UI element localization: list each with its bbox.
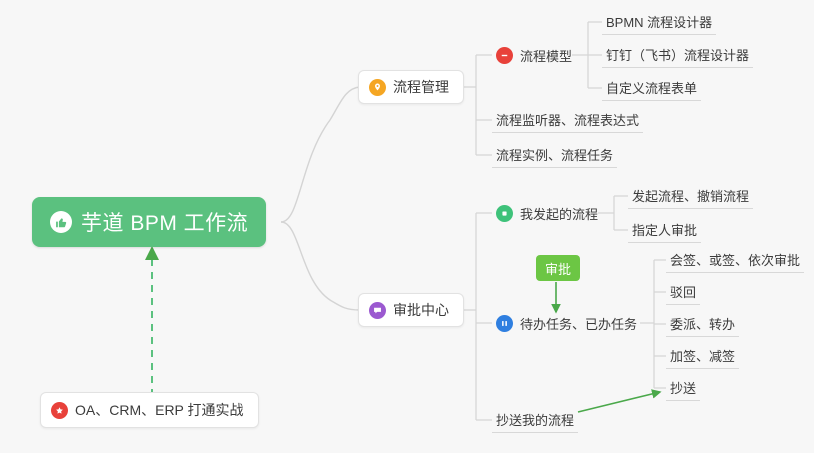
node-instance-task[interactable]: 流程实例、流程任务 — [492, 142, 617, 168]
minus-circle-icon — [496, 47, 513, 64]
node-label: 委派、转办 — [670, 314, 735, 333]
location-pin-icon — [369, 79, 386, 96]
note-card-label: OA、CRM、ERP 打通实战 — [75, 400, 244, 420]
note-card-integration[interactable]: OA、CRM、ERP 打通实战 — [40, 392, 259, 428]
branch-node-approval-center[interactable]: 审批中心 — [358, 293, 464, 327]
node-dingtalk-designer[interactable]: 钉钉（飞书）流程设计器 — [602, 42, 753, 68]
node-start-cancel-process[interactable]: 发起流程、撤销流程 — [628, 183, 753, 209]
node-label: 抄送我的流程 — [496, 410, 574, 429]
node-add-remove-sign[interactable]: 加签、减签 — [666, 343, 739, 369]
node-label: 钉钉（飞书）流程设计器 — [606, 45, 749, 64]
node-reject[interactable]: 驳回 — [666, 279, 700, 305]
node-delegate-transfer[interactable]: 委派、转办 — [666, 311, 739, 337]
node-label: BPMN 流程设计器 — [606, 12, 712, 31]
root-node-label: 芋道 BPM 工作流 — [81, 207, 248, 237]
node-label: 加签、减签 — [670, 346, 735, 365]
branch-node-label: 流程管理 — [393, 77, 449, 97]
node-assign-approver[interactable]: 指定人审批 — [628, 217, 701, 243]
node-listener-expression[interactable]: 流程监听器、流程表达式 — [492, 107, 643, 133]
node-todo-done-task[interactable]: 待办任务、已办任务 — [492, 310, 641, 336]
node-custom-form[interactable]: 自定义流程表单 — [602, 75, 701, 101]
pause-circle-icon — [496, 315, 513, 332]
node-label: 我发起的流程 — [520, 204, 598, 223]
node-cc-to-me[interactable]: 抄送我的流程 — [492, 407, 578, 433]
branch-node-label: 审批中心 — [393, 300, 449, 320]
root-node[interactable]: 芋道 BPM 工作流 — [32, 197, 266, 247]
node-process-model[interactable]: 流程模型 — [492, 42, 576, 68]
highlight-chip-approval: 审批 — [536, 255, 580, 281]
node-label: 驳回 — [670, 282, 696, 301]
star-badge-icon — [51, 402, 68, 419]
node-label: 会签、或签、依次审批 — [670, 250, 800, 269]
node-label: 待办任务、已办任务 — [520, 314, 637, 333]
branch-node-process-management[interactable]: 流程管理 — [358, 70, 464, 104]
node-label: 指定人审批 — [632, 220, 697, 239]
mindmap-canvas: 芋道 BPM 工作流 流程管理 流程模型 BPMN 流程设计器 钉钉（飞书）流程… — [0, 0, 814, 453]
node-carbon-copy[interactable]: 抄送 — [666, 375, 700, 401]
node-label: 流程实例、流程任务 — [496, 145, 613, 164]
node-label: 流程监听器、流程表达式 — [496, 110, 639, 129]
chat-bubble-icon — [369, 302, 386, 319]
node-my-started-process[interactable]: 我发起的流程 — [492, 200, 602, 226]
node-label: 流程模型 — [520, 46, 572, 65]
node-label: 自定义流程表单 — [606, 78, 697, 97]
node-label: 抄送 — [670, 378, 696, 397]
thumbs-up-icon — [50, 211, 72, 233]
chip-label: 审批 — [545, 259, 571, 278]
node-countersign[interactable]: 会签、或签、依次审批 — [666, 247, 804, 273]
node-label: 发起流程、撤销流程 — [632, 186, 749, 205]
node-bpmn-designer[interactable]: BPMN 流程设计器 — [602, 9, 716, 35]
stop-circle-icon — [496, 205, 513, 222]
